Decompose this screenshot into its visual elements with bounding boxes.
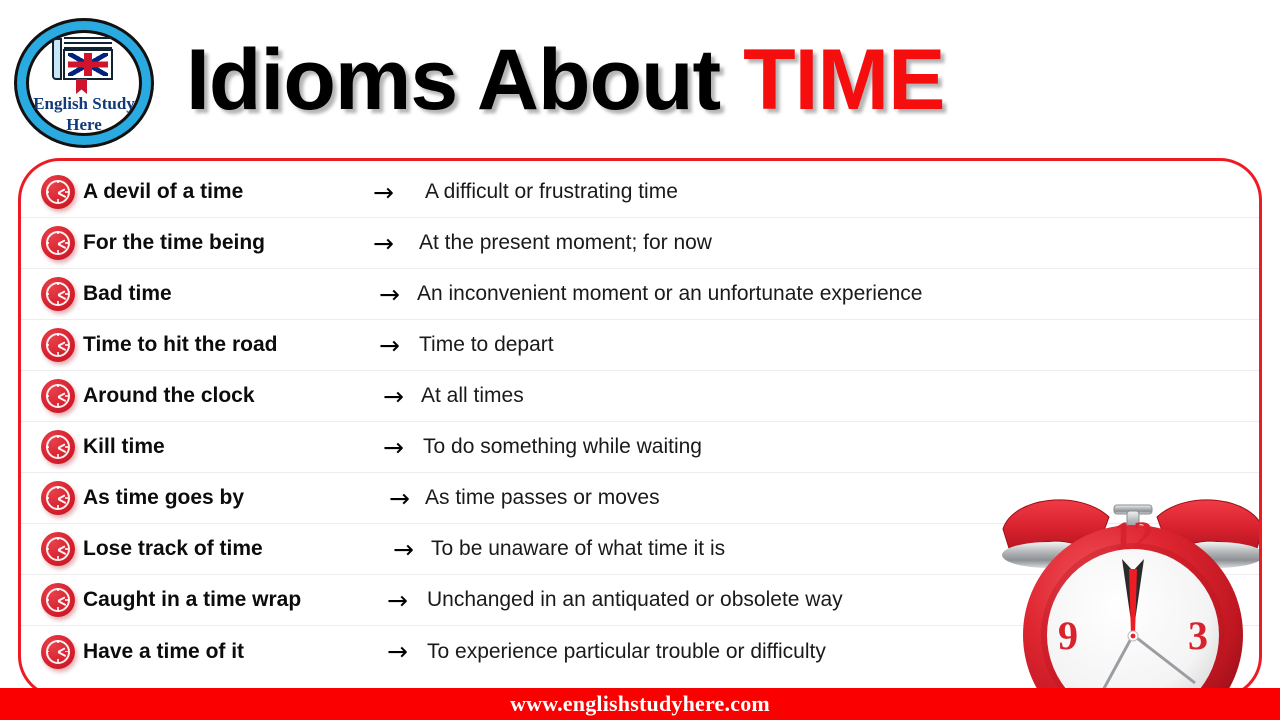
idiom-row: Caught in a time wrap→Unchanged in an an… xyxy=(21,575,1262,626)
idiom-meaning: To do something while waiting xyxy=(423,435,702,459)
website-url: www.englishstudyhere.com xyxy=(510,691,770,717)
page-title-black: Idioms About xyxy=(186,32,743,128)
idiom-list: A devil of a time→A difficult or frustra… xyxy=(21,167,1262,677)
clock-icon xyxy=(41,277,75,311)
clock-icon xyxy=(41,430,75,464)
idiom-meaning: Time to depart xyxy=(419,333,554,357)
footer-bar: www.englishstudyhere.com xyxy=(0,688,1280,720)
book-page-lines xyxy=(64,37,112,48)
idiom-term: Lose track of time xyxy=(83,537,263,561)
poster-page: English Study Here Idioms About TIME A d… xyxy=(0,0,1280,720)
clock-icon xyxy=(41,635,75,669)
arrow-right-icon: → xyxy=(383,384,404,409)
idiom-card: A devil of a time→A difficult or frustra… xyxy=(18,158,1262,698)
logo-text-line2: Here xyxy=(14,115,154,135)
idiom-term: Have a time of it xyxy=(83,640,244,664)
arrow-right-icon: → xyxy=(389,486,410,511)
arrow-right-icon: → xyxy=(379,282,400,307)
page-title-red: TIME xyxy=(743,32,944,128)
arrow-right-icon: → xyxy=(387,588,408,613)
idiom-meaning: At the present moment; for now xyxy=(419,231,712,255)
idiom-row: For the time being→At the present moment… xyxy=(21,218,1262,269)
clock-icon xyxy=(41,379,75,413)
clock-icon xyxy=(41,481,75,515)
book-spine xyxy=(52,38,62,80)
arrow-right-icon: → xyxy=(387,639,408,664)
clock-icon xyxy=(41,532,75,566)
idiom-row: Time to hit the road→Time to depart xyxy=(21,320,1262,371)
idiom-row: Lose track of time→To be unaware of what… xyxy=(21,524,1262,575)
clock-icon xyxy=(41,328,75,362)
clock-icon xyxy=(41,175,75,209)
page-title: Idioms About TIME xyxy=(186,26,945,134)
idiom-row: As time goes by→As time passes or moves xyxy=(21,473,1262,524)
idiom-meaning: To be unaware of what time it is xyxy=(431,537,725,561)
header: English Study Here Idioms About TIME xyxy=(0,0,1280,150)
logo-badge: English Study Here xyxy=(14,18,154,148)
arrow-right-icon: → xyxy=(373,180,394,205)
idiom-meaning: An inconvenient moment or an unfortunate… xyxy=(417,282,923,306)
idiom-row: Bad time→An inconvenient moment or an un… xyxy=(21,269,1262,320)
arrow-right-icon: → xyxy=(373,231,394,256)
idiom-meaning: A difficult or frustrating time xyxy=(425,180,678,204)
idiom-row: A devil of a time→A difficult or frustra… xyxy=(21,167,1262,218)
arrow-right-icon: → xyxy=(383,435,404,460)
book-uk-flag-icon xyxy=(52,36,114,82)
idiom-meaning: As time passes or moves xyxy=(425,486,660,510)
idiom-term: As time goes by xyxy=(83,486,244,510)
idiom-row: Around the clock→At all times xyxy=(21,371,1262,422)
arrow-right-icon: → xyxy=(393,537,414,562)
idiom-row: Have a time of it→To experience particul… xyxy=(21,626,1262,677)
idiom-meaning: Unchanged in an antiquated or obsolete w… xyxy=(427,588,843,612)
idiom-meaning: At all times xyxy=(421,384,524,408)
idiom-term: Caught in a time wrap xyxy=(83,588,301,612)
idiom-term: Around the clock xyxy=(83,384,255,408)
arrow-right-icon: → xyxy=(379,333,400,358)
idiom-term: Time to hit the road xyxy=(83,333,277,357)
idiom-term: A devil of a time xyxy=(83,180,243,204)
clock-icon xyxy=(41,583,75,617)
idiom-term: Bad time xyxy=(83,282,172,306)
logo-text-line1: English Study xyxy=(14,94,154,114)
idiom-meaning: To experience particular trouble or diff… xyxy=(427,640,826,664)
idiom-term: For the time being xyxy=(83,231,265,255)
uk-flag-icon xyxy=(63,49,113,80)
idiom-row: Kill time→To do something while waiting xyxy=(21,422,1262,473)
idiom-term: Kill time xyxy=(83,435,165,459)
clock-icon xyxy=(41,226,75,260)
